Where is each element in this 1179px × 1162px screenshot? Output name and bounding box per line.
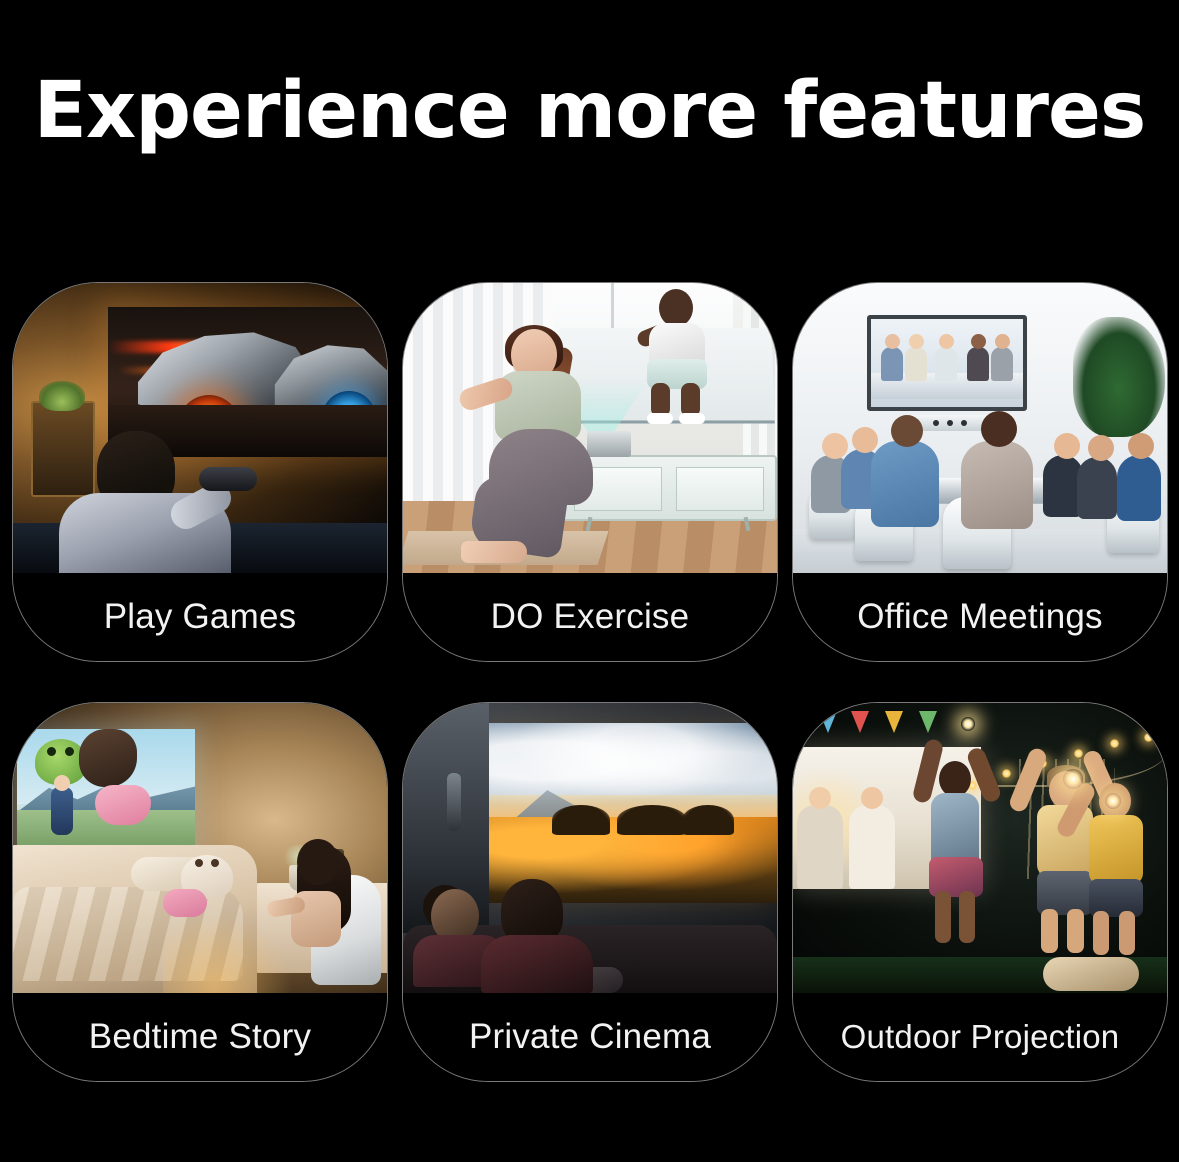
office-meetings-image <box>793 283 1167 575</box>
outdoor-projection-image <box>793 703 1167 995</box>
feature-card-outdoor-projection[interactable]: Outdoor Projection <box>792 702 1168 1082</box>
bedtime-story-image <box>13 703 387 995</box>
feature-label: Office Meetings <box>793 573 1167 661</box>
feature-card-do-exercise[interactable]: DO Exercise <box>402 282 778 662</box>
feature-label: Bedtime Story <box>13 993 387 1081</box>
private-cinema-image <box>403 703 777 995</box>
feature-label: Private Cinema <box>403 993 777 1081</box>
feature-card-office-meetings[interactable]: Office Meetings <box>792 282 1168 662</box>
feature-card-private-cinema[interactable]: Private Cinema <box>402 702 778 1082</box>
feature-grid: Play Games <box>12 282 1167 1082</box>
page-title: Experience more features <box>0 72 1179 150</box>
feature-label: Play Games <box>13 573 387 661</box>
feature-card-play-games[interactable]: Play Games <box>12 282 388 662</box>
play-games-image <box>13 283 387 575</box>
do-exercise-image <box>403 283 777 575</box>
feature-label: Outdoor Projection <box>793 993 1167 1081</box>
feature-label: DO Exercise <box>403 573 777 661</box>
feature-card-bedtime-story[interactable]: Bedtime Story <box>12 702 388 1082</box>
